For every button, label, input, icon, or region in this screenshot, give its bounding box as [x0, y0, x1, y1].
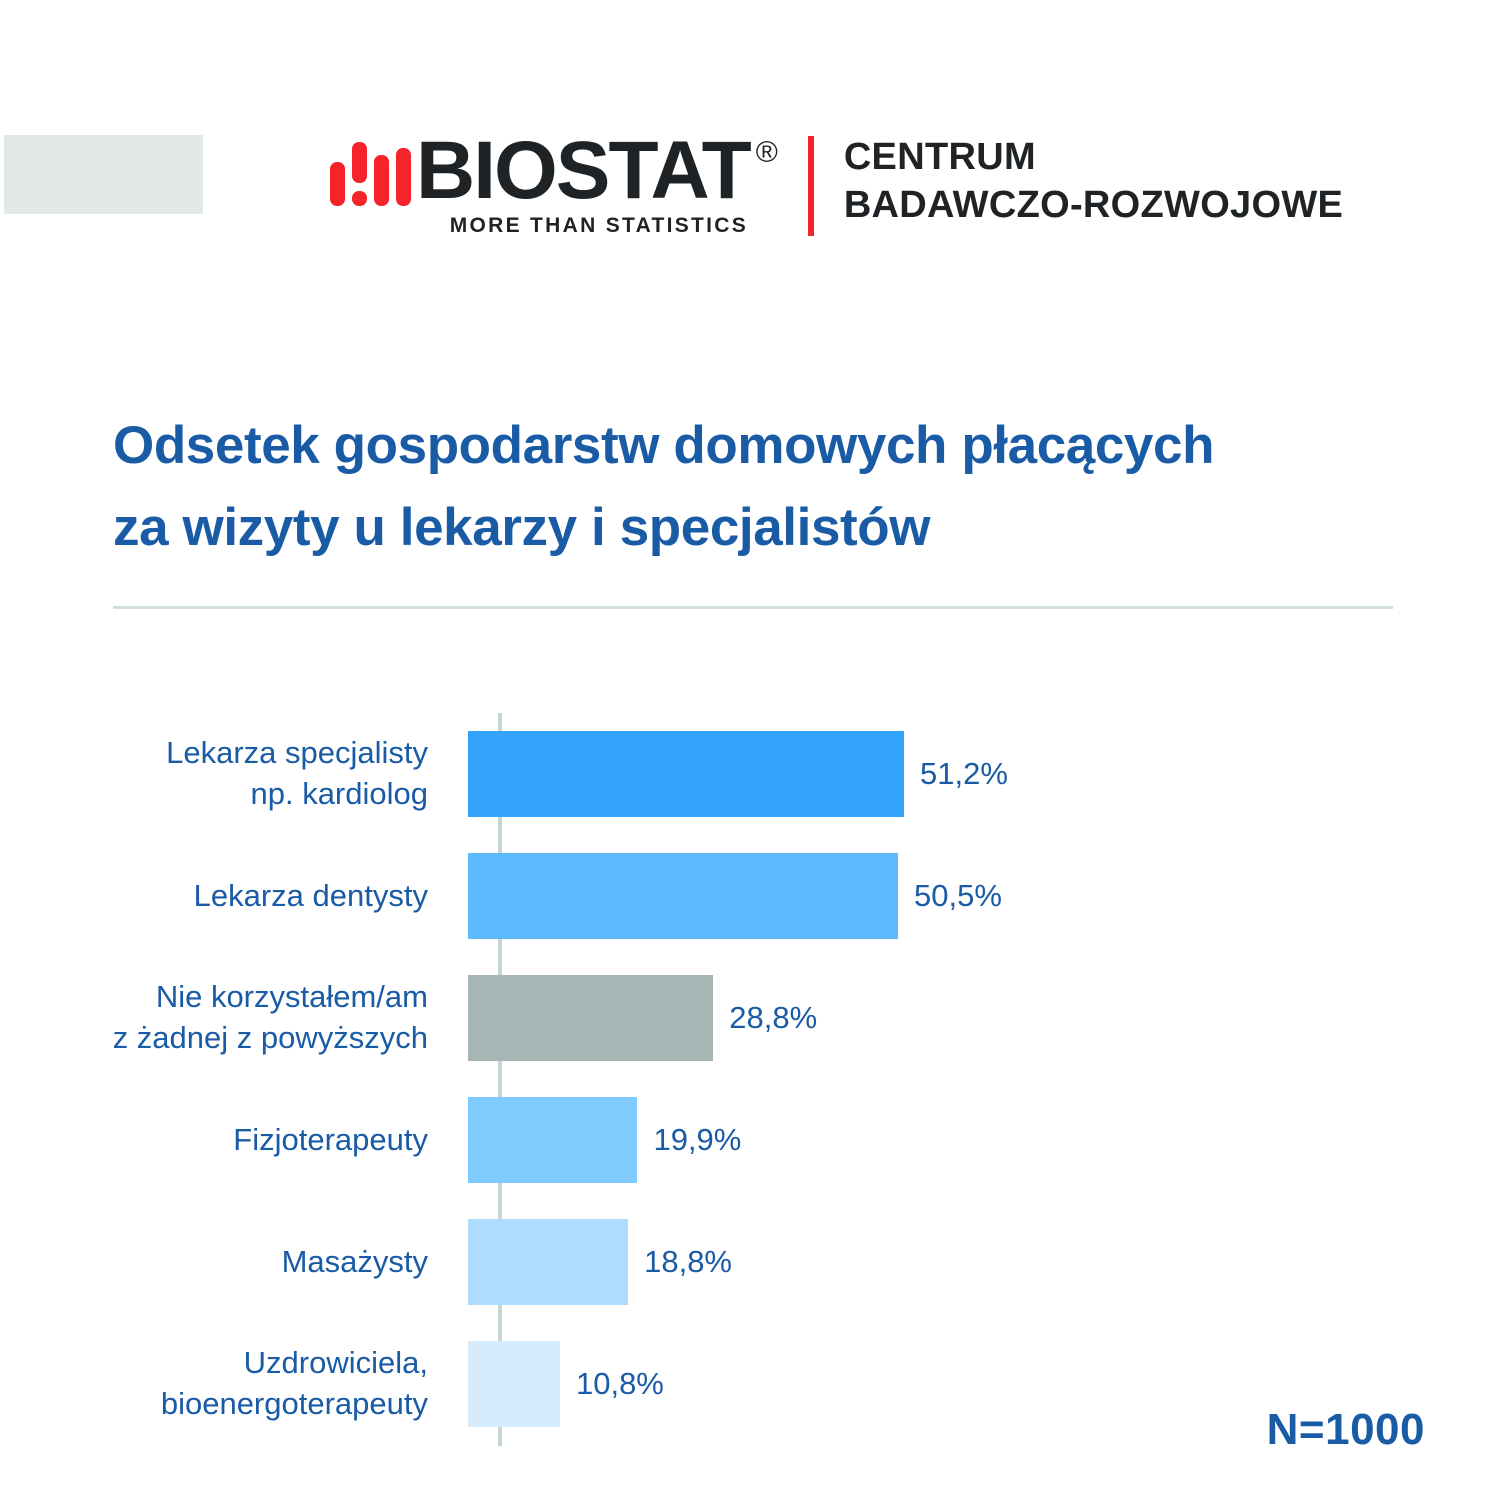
chart-bar-wrapper: 28,8% [468, 957, 817, 1079]
chart-bar[interactable] [468, 975, 713, 1061]
chart-category-label: Fizjoterapeuty [0, 1120, 468, 1161]
chart-value-label: 10,8% [576, 1366, 664, 1402]
chart-bar-wrapper: 50,5% [468, 835, 1002, 957]
chart-value-label: 28,8% [729, 1000, 817, 1036]
bar-chart: Lekarza specjalisty np. kardiolog51,2%Le… [0, 0, 1491, 1499]
chart-row: Lekarza specjalisty np. kardiolog51,2% [0, 713, 1491, 835]
chart-value-label: 51,2% [920, 756, 1008, 792]
chart-bar[interactable] [468, 1097, 637, 1183]
sample-size-label: N=1000 [1267, 1405, 1425, 1455]
chart-value-label: 18,8% [644, 1244, 732, 1280]
chart-rows: Lekarza specjalisty np. kardiolog51,2%Le… [0, 713, 1491, 1445]
chart-value-label: 19,9% [653, 1122, 741, 1158]
chart-bar[interactable] [468, 853, 898, 939]
chart-row: Fizjoterapeuty19,9% [0, 1079, 1491, 1201]
chart-bar-wrapper: 51,2% [468, 713, 1008, 835]
chart-category-label: Lekarza dentysty [0, 876, 468, 917]
chart-row: Nie korzystałem/am z żadnej z powyższych… [0, 957, 1491, 1079]
chart-category-label: Masażysty [0, 1242, 468, 1283]
chart-bar[interactable] [468, 1219, 628, 1305]
chart-value-label: 50,5% [914, 878, 1002, 914]
chart-bar[interactable] [468, 731, 904, 817]
chart-bar[interactable] [468, 1341, 560, 1427]
chart-bar-wrapper: 19,9% [468, 1079, 741, 1201]
chart-category-label: Uzdrowiciela, bioenergoterapeuty [0, 1343, 468, 1425]
chart-row: Lekarza dentysty50,5% [0, 835, 1491, 957]
chart-bar-wrapper: 10,8% [468, 1323, 664, 1445]
chart-bar-wrapper: 18,8% [468, 1201, 732, 1323]
chart-category-label: Nie korzystałem/am z żadnej z powyższych [0, 977, 468, 1059]
chart-category-label: Lekarza specjalisty np. kardiolog [0, 733, 468, 815]
chart-row: Masażysty18,8% [0, 1201, 1491, 1323]
